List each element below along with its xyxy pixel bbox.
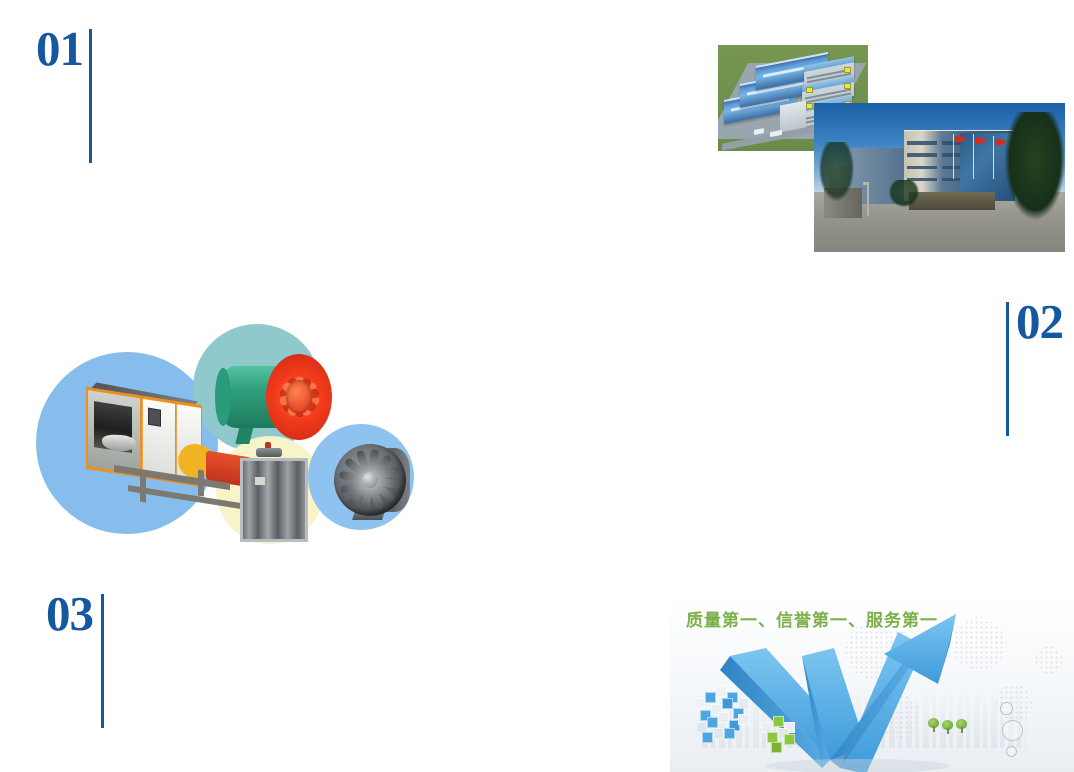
- section-marker-02: 02: [1006, 299, 1063, 436]
- bubble: [1006, 746, 1017, 757]
- flag-pole: [953, 134, 954, 179]
- bubble: [1002, 720, 1023, 741]
- courtyard-wall: [909, 192, 994, 210]
- section-marker-01: 01: [36, 26, 92, 163]
- tree: [1005, 112, 1065, 219]
- roof-marker: [844, 67, 851, 73]
- section-rule-03: [101, 594, 104, 728]
- section-rule-02: [1006, 302, 1009, 436]
- roof-marker: [806, 103, 813, 109]
- flag-pole: [993, 136, 994, 179]
- fan-inlet-shell: [334, 444, 406, 516]
- tree: [819, 142, 854, 202]
- product-collage: [30, 318, 430, 566]
- fan-hub: [286, 380, 312, 414]
- base-cross-rail: [198, 470, 204, 497]
- turbine-hub: [362, 472, 378, 488]
- roof-marker: [806, 87, 813, 93]
- growth-arrow-banner: 质量第一、信誉第一、服务第一: [670, 598, 1074, 772]
- cabinet-inlet-opening: [94, 401, 132, 453]
- section-number-03: 03: [46, 591, 93, 636]
- base-cross-rail: [140, 476, 146, 503]
- blue-cube-cluster: [694, 684, 760, 746]
- gate-post: [867, 183, 869, 216]
- control-box: [148, 408, 161, 427]
- tree-icon: [928, 718, 939, 732]
- gate-post-cap: [863, 182, 869, 185]
- section-marker-03: 03: [46, 591, 104, 728]
- fan-impeller-ring: [266, 354, 332, 440]
- damper-body: [240, 458, 308, 542]
- tree-icon: [956, 719, 967, 733]
- damper-lever: [256, 448, 282, 457]
- cabinet-inlet-face: [88, 390, 140, 474]
- bubble: [1000, 702, 1013, 715]
- green-cube-cluster: [762, 714, 798, 748]
- tree-icon: [942, 720, 953, 734]
- flag-pole: [973, 134, 974, 179]
- roof-marker: [844, 83, 851, 89]
- section-rule-01: [89, 29, 92, 163]
- poster-page: 01: [0, 0, 1074, 772]
- quality-slogan-text: 质量第一、信誉第一、服务第一: [686, 606, 938, 631]
- office-building-photo: [814, 103, 1065, 252]
- damper-label: [255, 477, 265, 485]
- shrub: [889, 180, 919, 207]
- section-number-01: 01: [36, 26, 83, 71]
- section-number-02: 02: [1016, 299, 1063, 344]
- cabinet-panel: [142, 399, 175, 480]
- impeller: [101, 434, 136, 452]
